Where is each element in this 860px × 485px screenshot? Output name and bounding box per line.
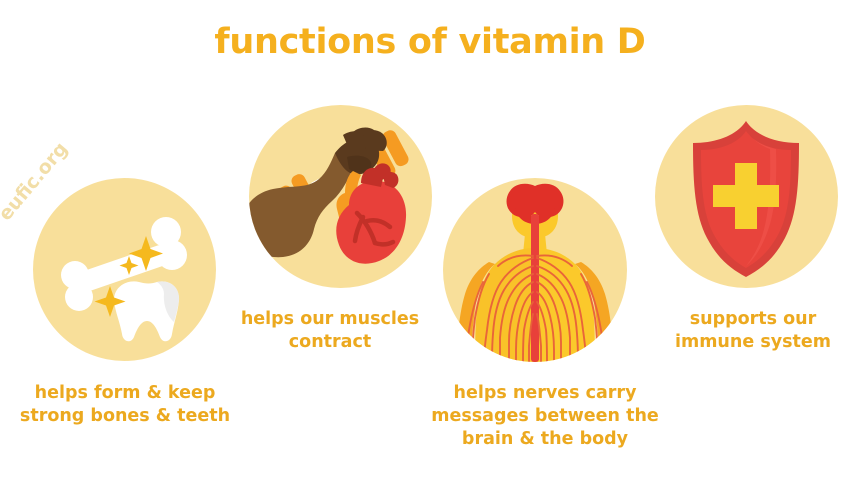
icon-circle-bones [33, 178, 216, 361]
page-title: functions of vitamin D [0, 22, 860, 62]
caption-bones: helps form & keep strong bones & teeth [0, 382, 250, 428]
icon-circle-muscle [249, 105, 432, 288]
spinal-cord [531, 214, 539, 362]
nervous-system-body-icon [457, 184, 613, 362]
tooth-icon [114, 281, 179, 341]
shield-with-cross-icon [693, 121, 799, 277]
caption-muscle: helps our muscles contract [225, 308, 435, 354]
caption-nerves: helps nerves carry messages between the … [420, 382, 670, 451]
infographic-poster: functions of vitamin D eufic.org [0, 0, 860, 485]
icon-circle-nerves [443, 178, 627, 362]
caption-immune: supports our immune system [648, 308, 858, 354]
icon-circle-immune [655, 105, 838, 288]
